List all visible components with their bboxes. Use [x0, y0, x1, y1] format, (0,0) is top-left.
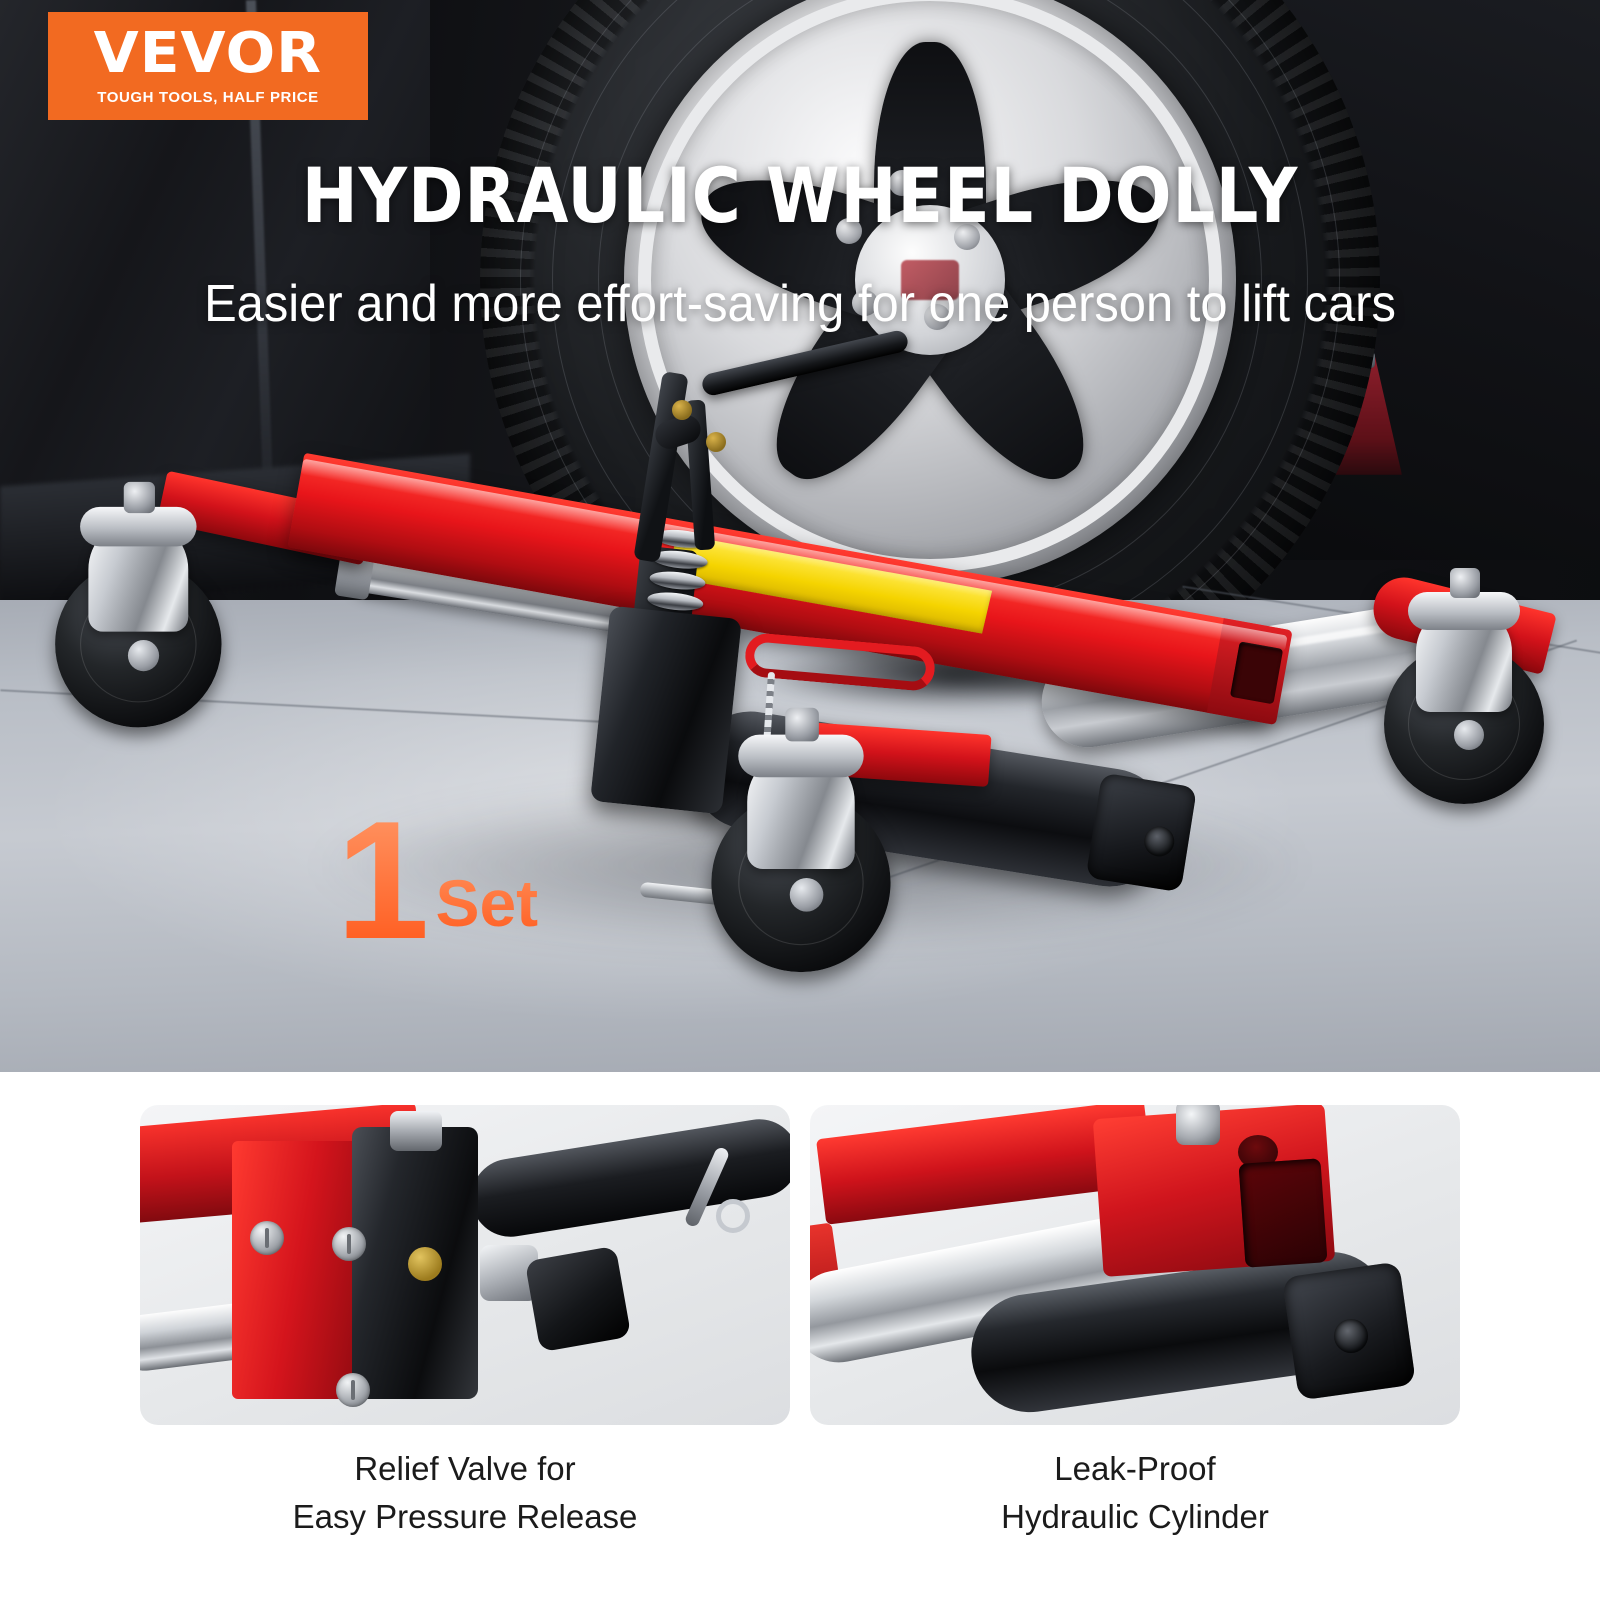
page-subtitle: Easier and more effort-saving for one pe…	[48, 276, 1552, 333]
feature-image-hydraulic-cylinder	[810, 1105, 1460, 1425]
feature-caption-right: Leak-Proof Hydraulic Cylinder	[810, 1445, 1460, 1541]
caption-line-1: Leak-Proof	[810, 1445, 1460, 1493]
brand-name: VEVOR	[94, 26, 322, 82]
spring-coil	[649, 569, 706, 592]
caster-mount-bolt	[1450, 568, 1480, 598]
cylinder-port	[1334, 1319, 1368, 1353]
caption-line-2: Easy Pressure Release	[140, 1493, 790, 1541]
caster-mount-bolt	[124, 482, 155, 513]
chrome-fitting	[390, 1111, 442, 1151]
caption-line-1: Relief Valve for	[140, 1445, 790, 1493]
beam-socket	[1230, 641, 1283, 704]
quantity-number: 1	[336, 812, 429, 950]
hero-section: VEVOR TOUGH TOOLS, HALF PRICE HYDRAULIC …	[0, 0, 1600, 1072]
brass-plug	[408, 1247, 442, 1281]
cylinder-port	[1142, 824, 1176, 858]
relief-valve-knob[interactable]	[525, 1246, 632, 1353]
feature-caption-left: Relief Valve for Easy Pressure Release	[140, 1445, 790, 1541]
pivot-bolt	[706, 432, 726, 452]
hex-bolt	[332, 1227, 366, 1261]
red-mount-plate	[232, 1141, 362, 1399]
quantity-badge: 1 Set	[336, 812, 538, 950]
caster-axle	[790, 878, 824, 912]
caster-axle	[1454, 720, 1484, 750]
hex-bolt	[250, 1221, 284, 1255]
caption-line-2: Hydraulic Cylinder	[810, 1493, 1460, 1541]
receiver-socket	[1238, 1158, 1327, 1267]
brand-tagline: TOUGH TOOLS, HALF PRICE	[97, 89, 319, 106]
page-title: HYDRAULIC WHEEL DOLLY	[96, 158, 1504, 234]
vevor-logo: VEVOR TOUGH TOOLS, HALF PRICE	[48, 12, 368, 120]
cylinder-end-cap	[1086, 773, 1197, 893]
hydraulic-pump-body	[590, 606, 742, 815]
quantity-unit: Set	[435, 870, 538, 936]
caster-axle	[128, 640, 159, 671]
hex-bolt	[1176, 1105, 1220, 1145]
feature-image-relief-valve	[140, 1105, 790, 1425]
pump-handle-lever[interactable]	[700, 329, 910, 398]
locking-pin-ring	[716, 1199, 750, 1233]
pivot-bolt	[672, 400, 692, 420]
feature-detail-section: Relief Valve for Easy Pressure Release L…	[0, 1072, 1600, 1600]
caster-mount-bolt	[785, 708, 819, 742]
hex-bolt	[336, 1373, 370, 1407]
